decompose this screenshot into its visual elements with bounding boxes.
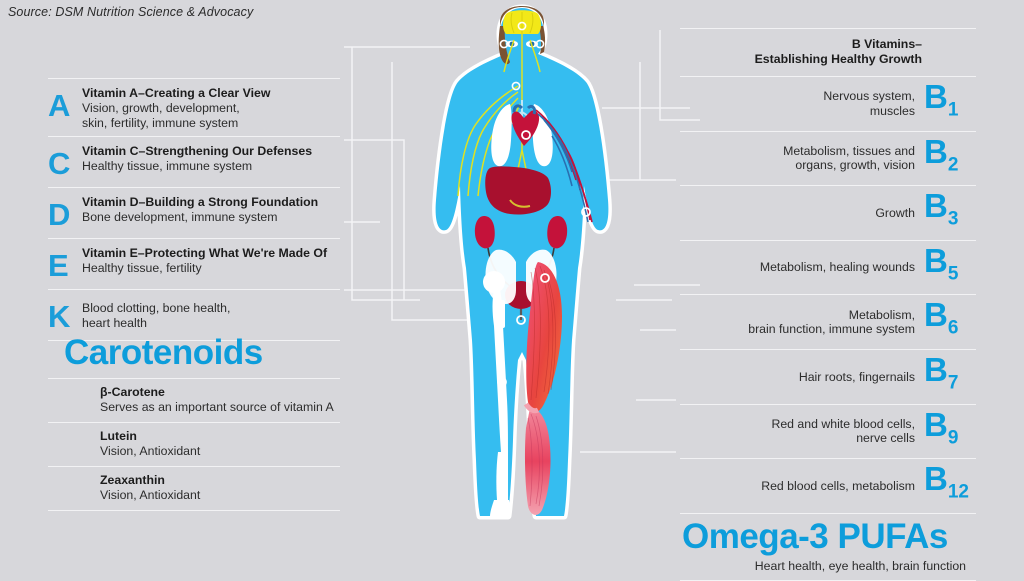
b-subscript: 6: [948, 318, 959, 339]
b-vitamin-row-b12[interactable]: Red blood cells, metabolism B12: [680, 458, 976, 513]
b-vitamins-list: B Vitamins– Establishing Healthy Growth …: [680, 28, 976, 581]
b-letter: B: [924, 242, 948, 279]
carotenoid-row-beta-carotene[interactable]: β-Carotene Serves as an important source…: [48, 378, 340, 422]
b-vitamin-label-b7: B7: [924, 353, 976, 401]
b-vitamin-label-b3: B3: [924, 189, 976, 237]
b-vitamin-desc-b1: Nervous system, muscles: [680, 89, 924, 118]
b-subscript: 3: [948, 209, 959, 230]
b-vitamin-label-b6: B6: [924, 298, 976, 346]
vitamin-letter-c: C: [48, 147, 82, 181]
b-vitamin-label-b12: B12: [924, 462, 976, 510]
b-vitamin-desc-b7: Hair roots, fingernails: [680, 370, 924, 385]
b-letter: B: [924, 351, 948, 388]
b-vitamin-desc-b12: Red blood cells, metabolism: [680, 479, 924, 494]
vitamin-desc-d: Bone development, immune system: [82, 210, 340, 225]
b-vitamin-desc-b3: Growth: [680, 206, 924, 221]
b-vitamin-row-b1[interactable]: Nervous system, muscles B1: [680, 76, 976, 131]
b-subscript: 9: [948, 427, 959, 448]
liver: [485, 166, 551, 214]
carotenoid-desc-lutein: Vision, Antioxidant: [100, 444, 340, 459]
vitamin-desc-c: Healthy tissue, immune system: [82, 159, 340, 174]
vitamin-row-c[interactable]: C Vitamin C–Strengthening Our Defenses H…: [48, 136, 340, 187]
b-letter: B: [924, 460, 948, 497]
b-vitamin-label-b2: B2: [924, 135, 976, 183]
source-credit: Source: DSM Nutrition Science & Advocacy: [8, 5, 253, 19]
carotenoid-row-zeaxanthin[interactable]: Zeaxanthin Vision, Antioxidant: [48, 466, 340, 511]
vitamin-letter-e: E: [48, 249, 82, 283]
b-vitamin-desc-b2: Metabolism, tissues and organs, growth, …: [680, 144, 924, 173]
b-vitamin-row-b3[interactable]: Growth B3: [680, 185, 976, 240]
omega-3-title: Omega-3 PUFAs: [680, 516, 976, 558]
carotenoid-name-beta-carotene: β-Carotene: [100, 385, 340, 400]
vitamins-list: A Vitamin A–Creating a Clear View Vision…: [48, 78, 340, 341]
b-vitamin-row-b2[interactable]: Metabolism, tissues and organs, growth, …: [680, 131, 976, 186]
b-vitamin-desc-b6: Metabolism, brain function, immune syste…: [680, 308, 924, 337]
b-vitamin-row-b7[interactable]: Hair roots, fingernails B7: [680, 349, 976, 404]
vitamin-letter-a: A: [48, 89, 82, 123]
b-letter: B: [924, 187, 948, 224]
vitamin-title-a: Vitamin A–Creating a Clear View: [82, 86, 340, 101]
carotenoids-list: β-Carotene Serves as an important source…: [48, 378, 340, 511]
vitamin-desc-a: Vision, growth, development, skin, ferti…: [82, 101, 340, 130]
carotenoid-row-lutein[interactable]: Lutein Vision, Antioxidant: [48, 422, 340, 466]
vitamin-letter-k: K: [48, 300, 82, 334]
b-letter: B: [924, 296, 948, 333]
vitamin-desc-k: Blood clotting, bone health, heart healt…: [82, 301, 340, 330]
b-letter: B: [924, 78, 948, 115]
vitamin-desc-e: Healthy tissue, fertility: [82, 261, 340, 276]
omega-3-desc: Heart health, eye health, brain function: [680, 558, 976, 574]
b-vitamin-label-b5: B5: [924, 244, 976, 292]
vitamin-title-e: Vitamin E–Protecting What We're Made Of: [82, 246, 340, 261]
b-vitamin-row-b5[interactable]: Metabolism, healing wounds B5: [680, 240, 976, 295]
b-vitamin-row-b6[interactable]: Metabolism, brain function, immune syste…: [680, 294, 976, 349]
b-vitamin-label-b1: B1: [924, 80, 976, 128]
b-subscript: 2: [948, 154, 959, 175]
carotenoid-name-lutein: Lutein: [100, 429, 340, 444]
b-subscript: 5: [948, 263, 959, 284]
vitamin-title-d: Vitamin D–Building a Strong Foundation: [82, 195, 340, 210]
carotenoid-desc-zeaxanthin: Vision, Antioxidant: [100, 488, 340, 503]
b-letter: B: [924, 406, 948, 443]
carotenoid-name-zeaxanthin: Zeaxanthin: [100, 473, 340, 488]
b-vitamins-heading: B Vitamins– Establishing Healthy Growth: [680, 28, 976, 76]
vitamin-row-a[interactable]: A Vitamin A–Creating a Clear View Vision…: [48, 78, 340, 136]
b-subscript: 12: [948, 482, 969, 503]
b-vitamin-desc-b9: Red and white blood cells, nerve cells: [680, 417, 924, 446]
b-vitamin-label-b9: B9: [924, 408, 976, 456]
vitamin-row-d[interactable]: D Vitamin D–Building a Strong Foundation…: [48, 187, 340, 238]
b-subscript: 1: [948, 100, 959, 121]
b-vitamin-row-b9[interactable]: Red and white blood cells, nerve cells B…: [680, 404, 976, 459]
vitamin-title-c: Vitamin C–Strengthening Our Defenses: [82, 144, 340, 159]
omega-3-section[interactable]: Omega-3 PUFAs Heart health, eye health, …: [680, 513, 976, 581]
carotenoid-desc-beta-carotene: Serves as an important source of vitamin…: [100, 400, 340, 415]
b-vitamin-desc-b5: Metabolism, healing wounds: [680, 260, 924, 275]
carotenoids-heading: Carotenoids: [64, 333, 263, 373]
human-anatomy-illustration: [418, 0, 626, 527]
b-subscript: 7: [948, 373, 959, 394]
vitamin-row-e[interactable]: E Vitamin E–Protecting What We're Made O…: [48, 238, 340, 289]
b-letter: B: [924, 133, 948, 170]
infographic-root: Source: DSM Nutrition Science & Advocacy: [0, 0, 1024, 527]
vitamin-letter-d: D: [48, 198, 82, 232]
